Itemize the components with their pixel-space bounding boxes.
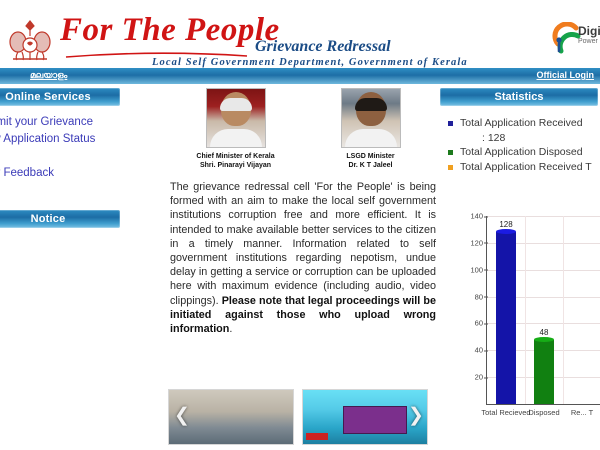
chart-x-tick: Re... T <box>556 408 600 417</box>
chart-gridline-vertical <box>525 216 526 404</box>
online-services-header: Online Services <box>0 88 120 106</box>
chart-bar-value-label: 48 <box>540 328 549 337</box>
kerala-state-emblem-icon <box>4 14 56 66</box>
top-navbar <box>0 68 600 84</box>
applications-bar-chart: No of Applications 20406080100120140128T… <box>452 210 600 448</box>
image-carousel[interactable]: ❮ ❯ <box>168 388 438 446</box>
statistics-label-received-today: Total Application Received T <box>460 161 592 173</box>
statistics-header: Statistics <box>440 88 598 106</box>
main-content: Chief Minister of Kerala Shri. Pinarayi … <box>168 88 438 336</box>
sidebar-item-view-application-status[interactable]: View Application Status <box>0 131 144 148</box>
minister-card-lsgd: LSGD Minister Dr. K T Jaleel <box>315 88 427 170</box>
sidebar-links: Submit your Grievance View Application S… <box>0 114 144 182</box>
statistics-value-received: : 128 <box>444 131 600 145</box>
chart-bar: 128 <box>496 232 516 404</box>
statistics-item-received-today: Total Application Received T <box>444 160 600 175</box>
statistics-label-disposed: Total Application Disposed <box>460 146 583 158</box>
notice-header: Notice <box>0 210 120 228</box>
minister-name-lsgd: Dr. K T Jaleel <box>315 161 427 170</box>
digital-india-tagline: Power <box>578 38 600 45</box>
statistics-item-received: Total Application Received <box>444 116 600 131</box>
statistics-panel: Statistics Total Application Received : … <box>440 88 600 191</box>
statistics-list: Total Application Received : 128 Total A… <box>440 116 600 175</box>
chevron-right-icon[interactable]: ❯ <box>406 404 426 428</box>
language-toggle-malayalam[interactable]: മലയാളം <box>30 70 67 81</box>
chart-y-tick: 140 <box>470 212 483 221</box>
minister-role-lsgd: LSGD Minister <box>315 152 427 161</box>
minister-name-cm: Shri. Pinarayi Vijayan <box>180 161 292 170</box>
chart-gridline <box>487 216 600 217</box>
minister-card-cm: Chief Minister of Kerala Shri. Pinarayi … <box>180 88 292 170</box>
chart-y-tick: 20 <box>475 373 483 382</box>
lsgd-minister-photo <box>341 88 401 148</box>
ministers-row: Chief Minister of Kerala Shri. Pinarayi … <box>168 88 438 170</box>
bullet-square-icon-blue <box>448 121 453 126</box>
digital-india-label: Digi Power <box>578 25 600 45</box>
bullet-square-icon-green <box>448 150 453 155</box>
statistics-item-disposed: Total Application Disposed <box>444 145 600 160</box>
digital-india-word: Digi <box>578 25 600 38</box>
chart-y-tick: 120 <box>470 238 483 247</box>
page-root: For The People Grievance Redressal Local… <box>0 0 600 450</box>
bullet-square-icon-orange <box>448 165 453 170</box>
statistics-label-received: Total Application Received <box>460 117 583 129</box>
brand-department: Local Self Government Department, Govern… <box>152 57 468 68</box>
chart-gridline-vertical <box>563 216 564 404</box>
chevron-left-icon[interactable]: ❮ <box>172 404 192 428</box>
chart-y-tick: 60 <box>475 319 483 328</box>
brand-title: For The People <box>60 12 280 49</box>
brand-subtitle: Grievance Redressal <box>255 38 391 56</box>
sidebar-item-submit-grievance[interactable]: Submit your Grievance <box>0 114 144 131</box>
chart-bar: 48 <box>534 340 554 404</box>
chart-plot-area: 20406080100120140128Total Recieved48Disp… <box>486 216 600 405</box>
site-header: For The People Grievance Redressal Local… <box>0 0 600 69</box>
official-login-link[interactable]: Official Login <box>537 70 595 80</box>
sidebar-item-user-feedback[interactable]: User Feedback <box>0 165 144 182</box>
left-sidebar: Online Services Submit your Grievance Vi… <box>0 88 144 228</box>
chart-y-tick: 100 <box>470 265 483 274</box>
chart-bar-value-label: 128 <box>499 220 512 229</box>
chart-y-tick: 80 <box>475 292 483 301</box>
brand-underline-decoration <box>64 47 244 55</box>
intro-paragraph-period: . <box>229 323 232 335</box>
chart-y-tick: 40 <box>475 346 483 355</box>
chief-minister-photo <box>206 88 266 148</box>
minister-role-cm: Chief Minister of Kerala <box>180 152 292 161</box>
intro-paragraph-text: The grievance redressal cell 'For the Pe… <box>170 181 436 307</box>
intro-paragraph: The grievance redressal cell 'For the Pe… <box>168 180 438 336</box>
